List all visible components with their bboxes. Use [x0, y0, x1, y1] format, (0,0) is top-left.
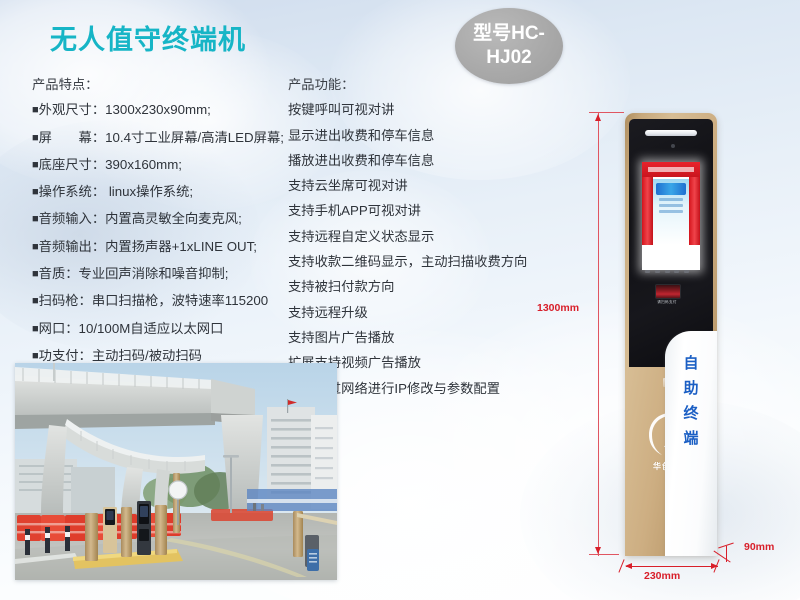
height-dimension-label: 1300mm	[537, 302, 579, 314]
bullet-icon: ■	[32, 213, 39, 225]
feature-item-label: 功支付：主动扫码/被动扫码	[39, 348, 202, 363]
bullet-icon: ■	[32, 159, 39, 171]
camera-icon	[671, 144, 675, 148]
bullet-icon: ■	[32, 132, 39, 144]
model-badge-label: 型号HC-HJ02	[455, 22, 563, 70]
feature-item-label: 操作系统： linux操作系统;	[39, 184, 193, 199]
feature-item: ■音频输入：内置高灵敏全向麦克风;	[32, 206, 284, 233]
feature-item-label: 网口：10/100M自适应以太网口	[39, 321, 224, 336]
function-item: 支持手机APP可视对讲	[288, 198, 527, 223]
function-item: 显示进出收费和停车信息	[288, 123, 527, 148]
poster-line	[659, 210, 683, 213]
feature-item: ■外观尺寸：1300x230x90mm;	[32, 97, 284, 124]
feature-item-label: 扫码枪：串口扫描枪，波特速率115200	[39, 293, 269, 308]
feature-item: ■网口：10/100M自适应以太网口	[32, 316, 284, 343]
screen-base	[642, 245, 700, 270]
kiosk-panel-text: 自 助 终 端	[680, 351, 702, 451]
keypad-button	[645, 270, 650, 273]
function-item: 支持被扫付款方向	[288, 274, 527, 299]
panel-char: 端	[680, 426, 702, 451]
poster-line	[659, 204, 683, 207]
feature-item: ■操作系统： linux操作系统;	[32, 179, 284, 206]
features-heading: 产品特点：	[32, 72, 284, 97]
poster-header	[656, 183, 686, 195]
feature-item-label: 外观尺寸：1300x230x90mm;	[39, 102, 211, 117]
function-item: 支持收款二维码显示，主动扫描收费方向	[288, 249, 527, 274]
function-item: 支持远程自定义状态显示	[288, 224, 527, 249]
feature-item: ■底座尺寸：390x160mm;	[32, 152, 284, 179]
feature-item-label: 底座尺寸：390x160mm;	[39, 157, 182, 172]
scan-label: 请扫码支付	[643, 300, 691, 305]
function-item: 支持云坐席可视对讲	[288, 173, 527, 198]
page-title: 无人值守终端机	[50, 18, 246, 57]
poster-line	[659, 198, 683, 201]
bullet-icon: ■	[32, 295, 39, 307]
function-item: 支持图片广告播放	[288, 325, 527, 350]
panel-char: 助	[680, 376, 702, 401]
keypad-row	[645, 270, 689, 273]
kiosk-display-screen	[642, 162, 700, 270]
panel-char: 自	[680, 351, 702, 376]
screen-banner	[642, 162, 700, 177]
led-light-bar	[645, 130, 697, 136]
bullet-icon: ■	[32, 350, 39, 362]
height-dimension-bottom-tick	[589, 554, 619, 555]
function-item: 播放进出收费和停车信息	[288, 148, 527, 173]
kiosk-product-render: 请扫码支付 帮助 华创慧停 自 助 终 端	[625, 113, 717, 556]
feature-item: ■屏 幕：10.4寸工业屏幕/高清LED屏幕;	[32, 125, 284, 152]
photo-artwork	[15, 363, 337, 580]
feature-item-label: 音频输入：内置高灵敏全向麦克风;	[39, 211, 242, 226]
function-item: 按键呼叫可视对讲	[288, 97, 527, 122]
product-spec-poster: 无人值守终端机 型号HC-HJ02 产品特点： ■外观尺寸：1300x230x9…	[0, 0, 800, 600]
screen-poster	[653, 179, 689, 245]
kiosk-front-face	[629, 119, 713, 367]
installation-photo	[15, 363, 337, 580]
feature-item-label: 音频输出：内置扬声器+1xLINE OUT;	[39, 239, 257, 254]
function-item: 支持远程升级	[288, 300, 527, 325]
width-dimension-label: 230mm	[644, 570, 680, 582]
qr-scanner-window	[655, 284, 681, 299]
keypad-button	[684, 270, 689, 273]
keypad-button	[665, 270, 670, 273]
width-dimension-line	[626, 566, 718, 567]
functions-column: 产品功能： 按键呼叫可视对讲 显示进出收费和停车信息 播放进出收费和停车信息 支…	[288, 72, 527, 401]
feature-item: ■音频输出：内置扬声器+1xLINE OUT;	[32, 234, 284, 261]
feature-item: ■扫码枪：串口扫描枪，波特速率115200	[32, 288, 284, 315]
bullet-icon: ■	[32, 186, 39, 198]
height-arrow-up-icon	[595, 114, 601, 121]
screen-curtain-right	[689, 177, 700, 245]
feature-item: ■音质：专业回声消除和噪音抑制;	[32, 261, 284, 288]
bullet-icon: ■	[32, 323, 39, 335]
panel-char: 终	[680, 401, 702, 426]
feature-item-label: 屏 幕：10.4寸工业屏幕/高清LED屏幕;	[39, 130, 284, 145]
screen-curtain-left	[642, 177, 653, 245]
keypad-button	[655, 270, 660, 273]
width-arrow-left-icon	[625, 563, 632, 569]
bullet-icon: ■	[32, 268, 39, 280]
keypad-button	[674, 270, 679, 273]
height-dimension-line	[598, 113, 599, 556]
feature-item-label: 音质：专业回声消除和噪音抑制;	[39, 266, 229, 281]
bullet-icon: ■	[32, 104, 39, 116]
depth-dimension-label: 90mm	[744, 541, 774, 553]
height-arrow-down-icon	[595, 547, 601, 554]
bullet-icon: ■	[32, 241, 39, 253]
functions-heading: 产品功能：	[288, 72, 527, 97]
width-dimension-left-tick	[618, 559, 624, 572]
depth-dimension-leader-line	[713, 551, 730, 563]
